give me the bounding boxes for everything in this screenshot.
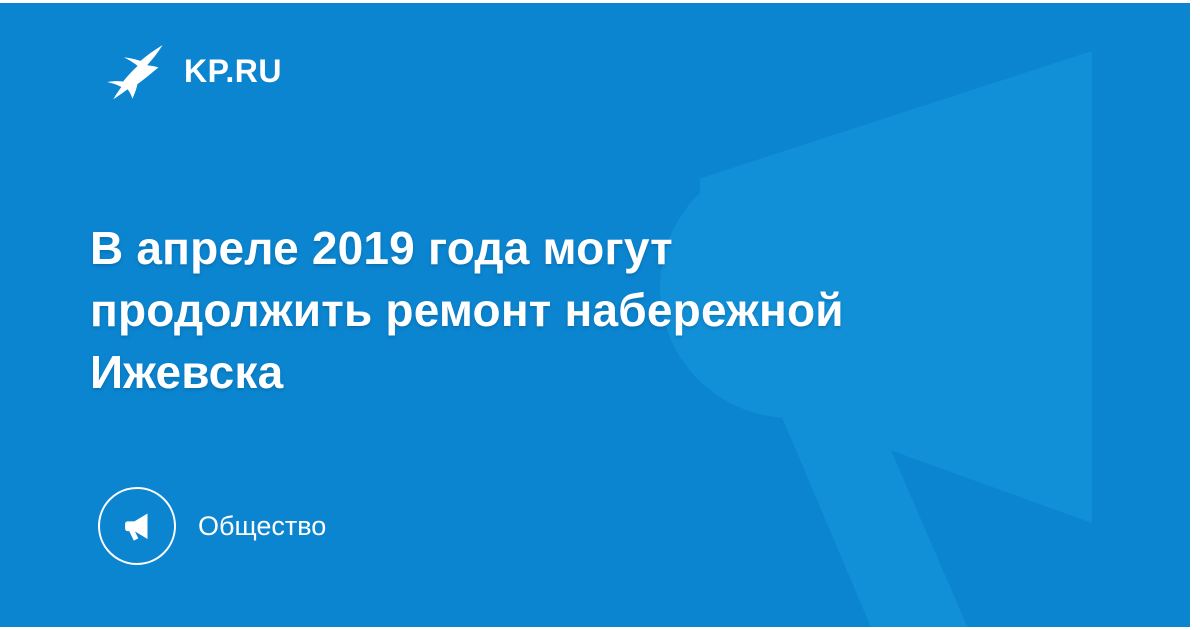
category-tag[interactable]: Общество [98, 487, 326, 565]
megaphone-icon [98, 487, 176, 565]
headline-line-2: продолжить ремонт набережной [90, 279, 1080, 341]
page-title: В апреле 2019 года могут продолжить ремо… [90, 217, 1080, 403]
megaphone-watermark-handle [740, 383, 970, 627]
category-label: Общество [198, 513, 326, 540]
headline-line-1: В апреле 2019 года могут [90, 217, 1080, 279]
brand-name: KP.RU [184, 55, 282, 87]
headline-line-3: Ижевска [90, 341, 1080, 403]
share-card: KP.RU В апреле 2019 года могут продолжит… [0, 0, 1200, 630]
brand-logo[interactable]: KP.RU [104, 40, 282, 102]
poster-background: KP.RU В апреле 2019 года могут продолжит… [0, 3, 1190, 627]
swallow-bird-icon [104, 40, 166, 102]
